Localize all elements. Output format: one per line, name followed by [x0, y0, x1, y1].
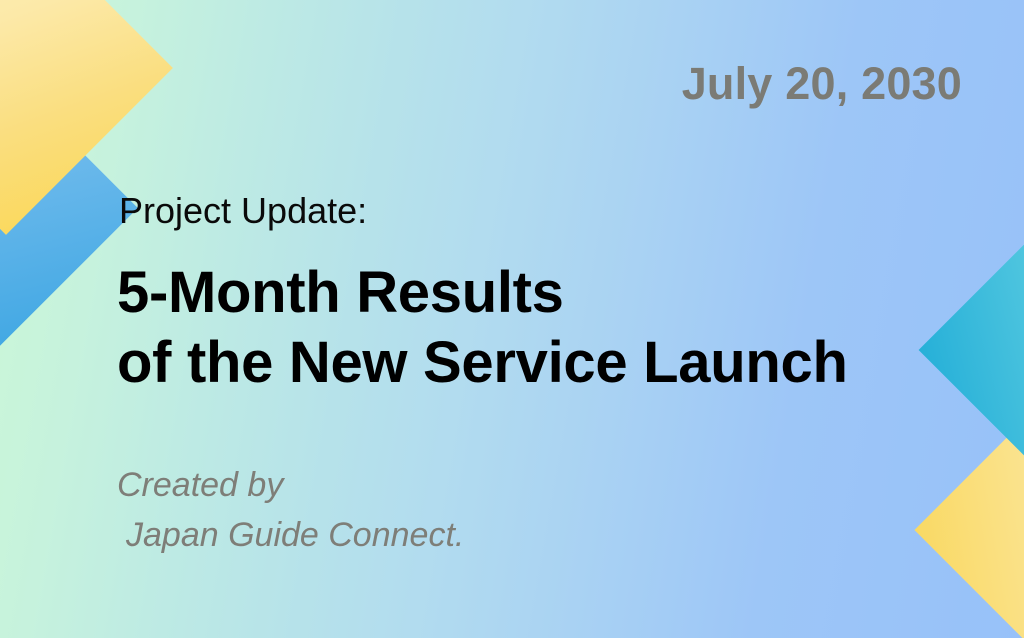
- slide-credit-line-2: Japan Guide Connect.: [117, 510, 464, 560]
- yellow-diamond-decoration-bottom-right: [914, 374, 1024, 638]
- slide-eyebrow: Project Update:: [119, 190, 367, 232]
- slide-date: July 20, 2030: [682, 58, 962, 110]
- slide-title-line-1: 5-Month Results: [117, 258, 848, 328]
- slide-credit-line-1: Created by: [117, 460, 464, 510]
- cyan-diamond-decoration-right: [919, 209, 1024, 492]
- slide-title: 5-Month Results of the New Service Launc…: [117, 258, 848, 398]
- slide-credit: Created by Japan Guide Connect.: [117, 460, 464, 560]
- slide-title-line-2: of the New Service Launch: [117, 328, 848, 398]
- presentation-slide: July 20, 2030 Project Update: 5-Month Re…: [0, 0, 1024, 638]
